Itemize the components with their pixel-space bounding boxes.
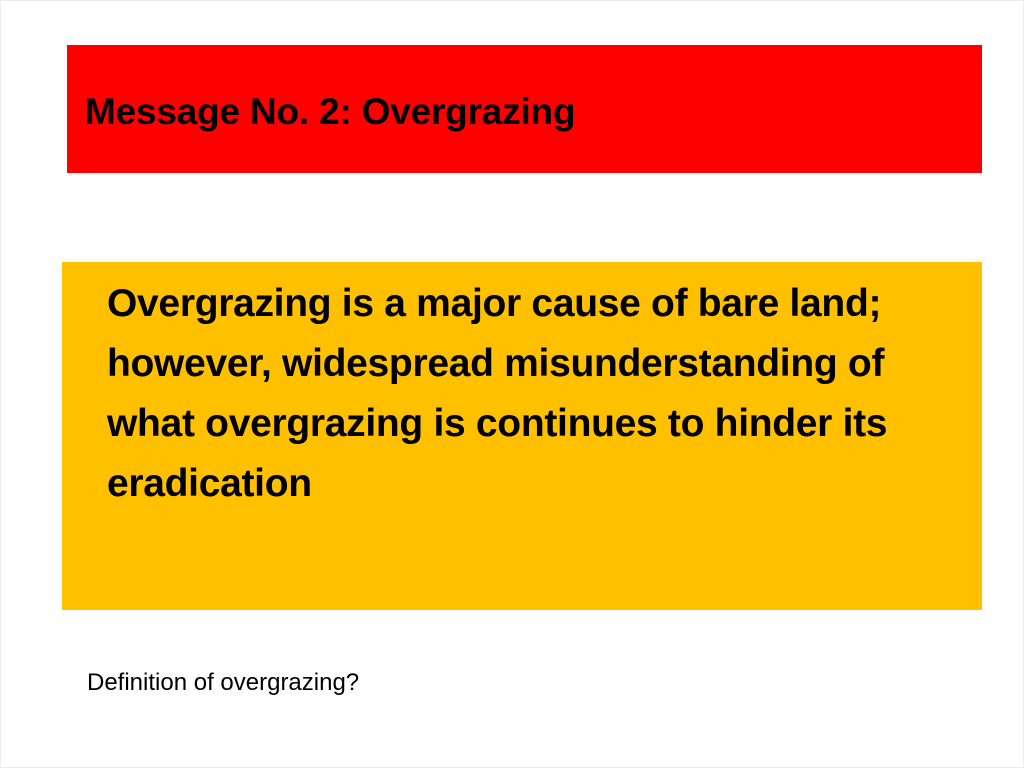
- title-banner: Message No. 2: Overgrazing: [67, 45, 982, 173]
- slide-title: Message No. 2: Overgrazing: [85, 90, 972, 134]
- slide-canvas: Message No. 2: Overgrazing Overgrazing i…: [0, 0, 1024, 768]
- message-content-box: Overgrazing is a major cause of bare lan…: [62, 262, 982, 610]
- message-body-text: Overgrazing is a major cause of bare lan…: [107, 274, 974, 514]
- definition-caption: Definition of overgrazing?: [87, 668, 359, 698]
